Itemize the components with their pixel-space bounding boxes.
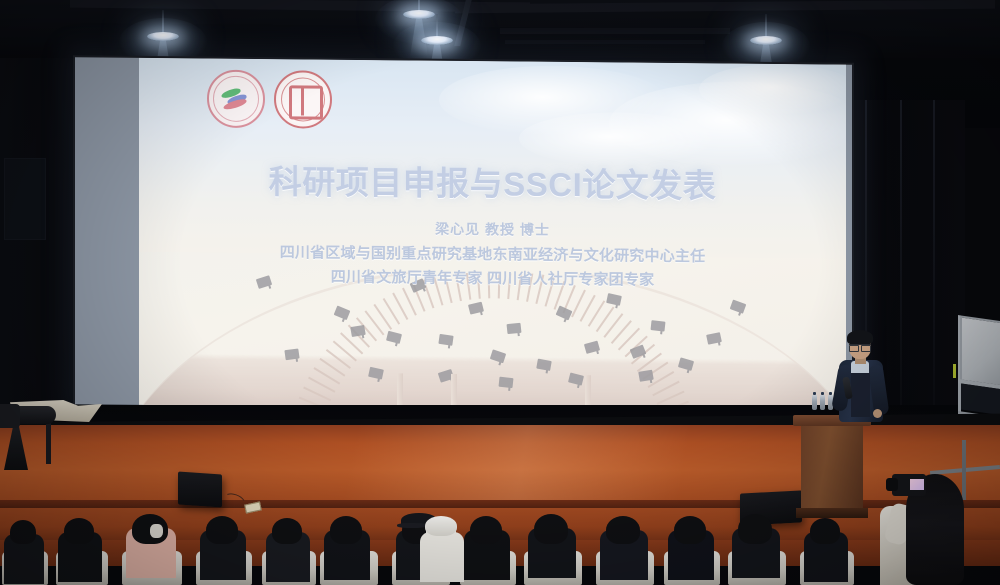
- glasses-icon: [849, 344, 871, 350]
- slide-logos: [207, 70, 332, 129]
- white-hat-icon: [425, 516, 457, 536]
- graduation-cap-icon: [507, 323, 522, 334]
- tripod-video-camera: [0, 404, 56, 430]
- audience-member-head: [606, 516, 640, 544]
- cdnu-logo: [274, 70, 332, 129]
- camera-body: [0, 404, 20, 428]
- arch-pillar: [397, 373, 403, 407]
- graduation-cap-icon: [499, 377, 514, 389]
- graduation-cap-icon: [651, 320, 666, 332]
- audience-member-head: [10, 520, 36, 544]
- graduation-cap-icon: [706, 332, 722, 345]
- water-bottles: [812, 395, 833, 410]
- whiteboard-surface: [960, 315, 1000, 387]
- graduation-cap-icon: [284, 348, 299, 360]
- graduation-cap-icon: [638, 370, 654, 382]
- arch-pillar: [451, 374, 457, 408]
- podium-body: [801, 425, 863, 511]
- ceiling-rail: [500, 28, 730, 34]
- projection-screen-surface: 科研项目申报与SSCI论文发表 梁心见 教授 博士 四川省区域与国别重点研究基地…: [75, 57, 852, 411]
- ceiling-beam: [455, 0, 995, 13]
- presenter-hair: [847, 330, 873, 345]
- presenter: [833, 333, 897, 433]
- graduation-cap-icon: [350, 325, 366, 337]
- presenter-hand: [873, 409, 882, 418]
- audience-member-head: [272, 518, 302, 544]
- presentation-slide: 科研项目申报与SSCI论文发表 梁心见 教授 博士 四川省区域与国别重点研究基地…: [139, 58, 846, 412]
- face-mask-icon: [150, 524, 163, 538]
- graduation-caps-photo: [139, 270, 846, 412]
- audience-member-head: [64, 518, 94, 544]
- graduation-cap-icon: [584, 341, 600, 354]
- slide-title: 科研项目申报与SSCI论文发表: [139, 154, 846, 209]
- presenter-sweater: [851, 373, 870, 417]
- left-wall: [0, 58, 76, 418]
- audience-member-head: [738, 514, 772, 544]
- curtain-fold: [933, 100, 935, 430]
- graduation-cap-icon: [468, 302, 484, 315]
- logo-glyph-mark: [289, 85, 323, 119]
- arch-rail: [657, 391, 685, 405]
- camera-screen: [910, 479, 924, 490]
- audience-member-head: [206, 516, 238, 544]
- wall-marker: [953, 364, 956, 378]
- audience-member-head: [674, 516, 706, 544]
- arch-rails: [139, 270, 846, 412]
- audience-photographer: [880, 470, 972, 585]
- graduation-cap-icon: [730, 299, 747, 313]
- camera-lens-icon: [886, 478, 898, 491]
- wall-panel: [4, 158, 46, 240]
- camera-lens-icon: [14, 406, 56, 424]
- lecture-hall-photo: 科研项目申报与SSCI论文发表 梁心见 教授 博士 四川省区域与国别重点研究基地…: [0, 0, 1000, 585]
- water-bottle: [820, 395, 825, 410]
- water-bottle: [812, 395, 817, 410]
- dslr-camera-icon: [892, 474, 926, 496]
- swun-logo: [207, 70, 265, 129]
- audience-member-head: [470, 516, 502, 544]
- ceiling-rail: [505, 40, 705, 44]
- graduation-cap-icon: [438, 334, 453, 346]
- audience-member-head: [330, 516, 362, 544]
- audience-member-head: [534, 514, 568, 544]
- audience-member-head: [810, 518, 840, 544]
- audience-rows: [0, 500, 1000, 585]
- whiteboard-lower-panel: [961, 383, 1000, 415]
- logo-wave-mark: [220, 89, 252, 109]
- curtain-fold: [900, 100, 902, 430]
- projection-screen: 科研项目申报与SSCI论文发表 梁心见 教授 博士 四川省区域与国别重点研究基地…: [73, 55, 854, 413]
